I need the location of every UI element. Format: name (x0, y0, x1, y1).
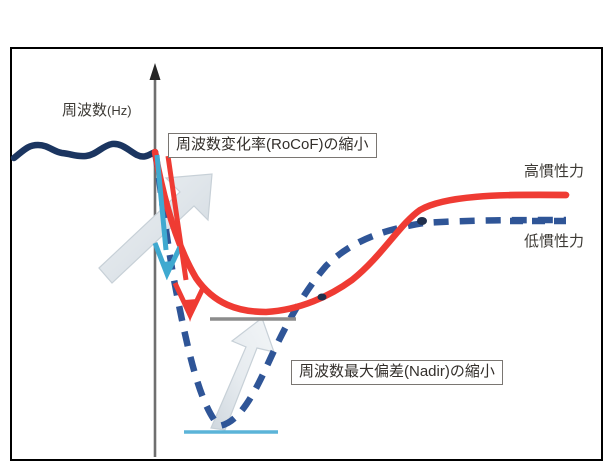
high-inertia-curve (155, 152, 566, 312)
y-axis-label-text: 周波数 (62, 102, 107, 119)
pre-event-wave (14, 144, 155, 158)
legend-label-low-inertia: 低慣性力 (524, 230, 584, 251)
callout-nadir: 周波数最大偏差(Nadir)の縮小 (291, 360, 503, 385)
legend-label-high-inertia: 高慣性力 (524, 160, 584, 181)
callout-rocof: 周波数変化率(RoCoF)の縮小 (168, 133, 377, 158)
diagram-canvas (0, 0, 611, 472)
nadir-improvement-arrow (211, 318, 274, 430)
y-axis-label: 周波数(Hz) (62, 99, 132, 120)
y-axis (150, 63, 161, 457)
y-axis-label-unit: (Hz) (107, 103, 132, 118)
